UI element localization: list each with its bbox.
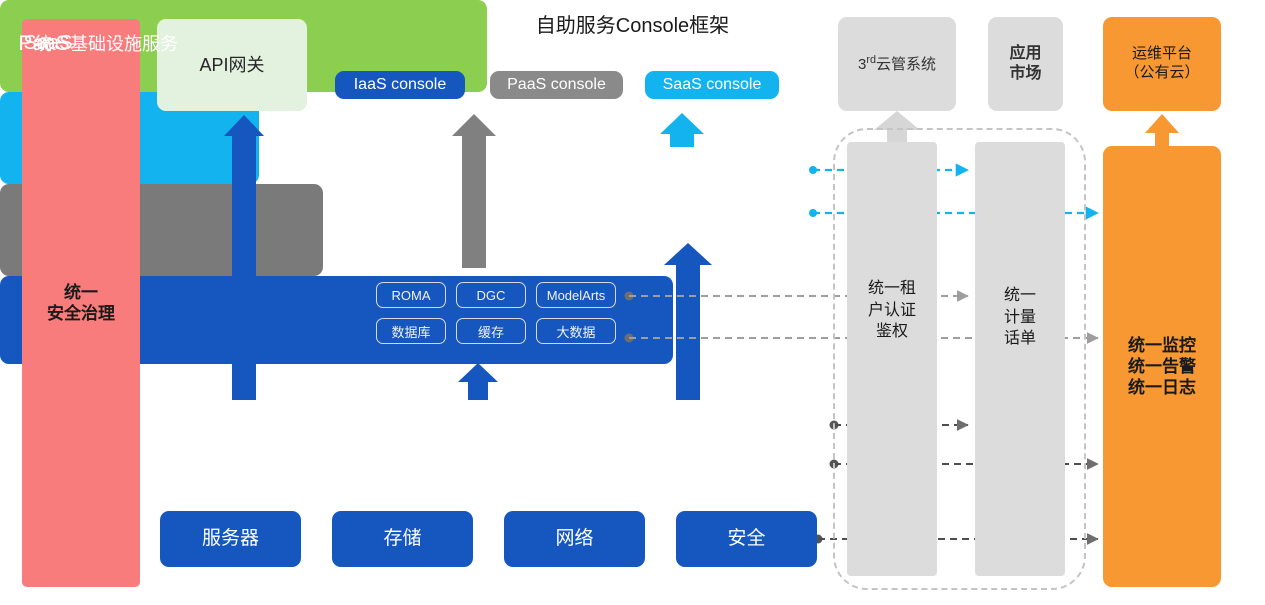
security-governance-label: 统一 安全治理: [47, 282, 115, 325]
arrow-infra-to-paas: [458, 363, 498, 400]
saas-service-iot[interactable]: IoT: [722, 160, 790, 186]
paas-service-modelarts[interactable]: ModelArts: [536, 282, 616, 308]
third-party-cloud-mgmt-label: 3rd云管系统: [858, 54, 936, 75]
hardware-server-box[interactable]: 服务器: [160, 511, 301, 567]
infra-service-storage[interactable]: Storage: [465, 421, 575, 457]
hardware-label: 存储: [383, 527, 421, 551]
hardware-label: 安全: [727, 527, 765, 551]
shared-service-billing-label: 统一 计量 话单: [975, 285, 1065, 350]
app-market-box[interactable]: 应用 市场: [988, 17, 1063, 111]
saas-service-label: IoT: [745, 165, 767, 182]
architecture-diagram: 统一 安全治理 API网关 自助服务Console框架 IaaS console…: [0, 0, 1265, 605]
infrastructure-label: 统一基础设施服务: [14, 30, 198, 56]
paas-service-label: ModelArts: [547, 288, 606, 303]
hardware-storage-box[interactable]: 存储: [332, 511, 473, 567]
saas-service-label: 桌面云: [733, 199, 778, 220]
infra-service-cce[interactable]: CCE: [707, 421, 813, 457]
security-governance-panel: 统一 安全治理: [22, 19, 140, 587]
paas-service-roma[interactable]: ROMA: [376, 282, 446, 308]
shared-service-auth-label: 统一租 户认证 鉴权: [847, 278, 937, 343]
paas-service-label: DGC: [477, 288, 506, 303]
infra-service-network[interactable]: Network: [586, 421, 696, 457]
infra-service-label: CCE: [741, 429, 779, 450]
saas-service-label: 区块链: [655, 163, 700, 184]
iaas-console-label: IaaS console: [354, 75, 447, 95]
api-gateway-label: API网关: [199, 54, 264, 77]
arrow-saas-to-console: [660, 113, 704, 147]
hardware-label: 服务器: [202, 527, 259, 551]
infra-service-label: Storage: [488, 429, 551, 450]
hardware-label: 网络: [555, 527, 593, 551]
saas-service-desktop-cloud[interactable]: 桌面云: [722, 196, 790, 222]
ops-platform-top-box[interactable]: 运维平台 （公有云）: [1103, 17, 1221, 111]
saas-service-blockchain[interactable]: 区块链: [644, 160, 712, 186]
paas-service-cache[interactable]: 缓存: [456, 318, 526, 344]
infra-service-compute[interactable]: Compute: [344, 421, 454, 457]
arrow-ops-main-to-ops-top: [1145, 114, 1179, 146]
paas-service-bigdata[interactable]: 大数据: [536, 318, 616, 344]
iaas-console-button[interactable]: IaaS console: [335, 71, 465, 99]
third-party-cloud-mgmt-box[interactable]: 3rd云管系统: [838, 17, 956, 111]
ops-platform-main-label: 统一监控 统一告警 统一日志: [1128, 335, 1196, 399]
ops-platform-top-label: 运维平台 （公有云）: [1124, 45, 1199, 83]
shared-service-auth-column: [847, 142, 937, 576]
paas-service-label: ROMA: [392, 288, 431, 303]
hardware-security-box[interactable]: 安全: [676, 511, 817, 567]
hardware-network-box[interactable]: 网络: [504, 511, 645, 567]
paas-service-label: 缓存: [478, 322, 504, 341]
paas-service-label: 大数据: [556, 322, 595, 341]
ops-platform-main-panel: 统一监控 统一告警 统一日志: [1103, 146, 1221, 587]
paas-console-label: PaaS console: [507, 75, 606, 95]
arrow-paas-to-console: [452, 114, 496, 268]
paas-service-label: 数据库: [391, 322, 430, 341]
shared-service-billing-column: [975, 142, 1065, 576]
saas-service-video-cloud[interactable]: 视频云: [644, 196, 712, 222]
saas-service-label: 视频云: [655, 199, 700, 220]
infra-service-label: Network: [608, 429, 674, 450]
paas-service-dgc[interactable]: DGC: [456, 282, 526, 308]
saas-console-label: SaaS console: [663, 75, 762, 95]
paas-service-database[interactable]: 数据库: [376, 318, 446, 344]
infra-service-label: Compute: [362, 429, 435, 450]
saas-console-button[interactable]: SaaS console: [645, 71, 779, 99]
paas-console-button[interactable]: PaaS console: [490, 71, 623, 99]
app-market-label: 应用 市场: [1009, 44, 1041, 84]
